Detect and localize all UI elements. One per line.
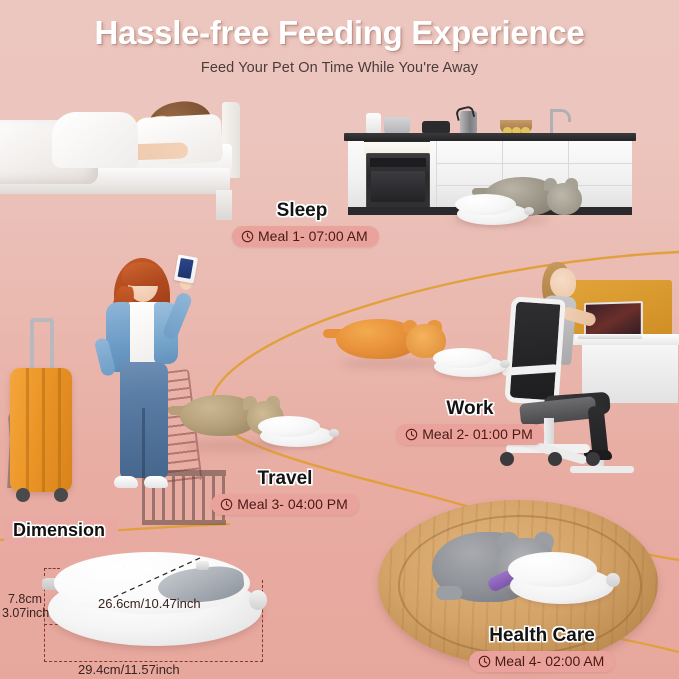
pet-feeder-travel xyxy=(258,416,336,450)
product-knob xyxy=(249,590,267,610)
clock-icon xyxy=(405,428,418,441)
office-chair-back xyxy=(504,296,565,406)
feeder-lid xyxy=(433,348,492,368)
scene-name-health-care: Health Care xyxy=(452,625,632,647)
chair-caster xyxy=(548,452,562,466)
cat-head xyxy=(547,183,582,215)
clock-icon xyxy=(478,655,491,668)
dimension-label: Dimension xyxy=(13,520,105,540)
passport xyxy=(174,254,198,283)
page-title: Hassle-free Feeding Experience xyxy=(0,14,679,52)
cabinet-seam xyxy=(436,163,632,164)
sleep-scene-bed xyxy=(0,98,242,224)
oven-control-panel xyxy=(370,158,426,167)
traveler-jeans-seam xyxy=(142,408,145,478)
meal-badge-work: Meal 2- 01:00 PM xyxy=(396,424,544,445)
traveler-shoe xyxy=(144,476,168,488)
cat-paw xyxy=(436,586,462,600)
meal-badge-text-work: Meal 2- 01:00 PM xyxy=(422,426,533,442)
faucet-arm xyxy=(550,109,571,122)
scene-label-health-care: Health Care Meal 4- 02:00 AM xyxy=(452,625,632,673)
traveler-woman xyxy=(92,258,212,508)
dimension-height-inch: 3.07inch xyxy=(2,606,49,620)
feeder-lid xyxy=(508,552,597,587)
infographic-page: Hassle-free Feeding Experience Feed Your… xyxy=(0,0,679,679)
traveler-hair-front xyxy=(122,262,164,286)
dimension-height-cm: 7.8cm xyxy=(8,592,42,606)
scene-label-work: Work Meal 2- 01:00 PM xyxy=(388,398,552,446)
feeder-knob xyxy=(500,360,510,368)
meal-badge-travel: Meal 3- 04:00 PM xyxy=(211,494,359,515)
meal-badge-sleep: Meal 1- 07:00 AM xyxy=(232,226,379,247)
suitcase-wheel xyxy=(54,488,68,502)
feeder-knob xyxy=(606,573,620,586)
dimension-height-label: 7.8cm 3.07inch xyxy=(2,592,42,621)
page-subtitle: Feed Your Pet On Time While You're Away xyxy=(0,60,679,76)
pet-feeder-work xyxy=(433,348,507,380)
dimension-width-label: 29.4cm/11.57inch xyxy=(78,663,180,678)
pot xyxy=(384,117,410,134)
suitcase xyxy=(10,368,72,492)
bed-leg xyxy=(216,190,232,220)
duvet-fold xyxy=(52,112,138,168)
pet-feeder-kitchen xyxy=(455,194,531,228)
scene-name-travel: Travel xyxy=(205,468,365,490)
laptop-keyboard xyxy=(578,335,642,339)
meal-badge-text-sleep: Meal 1- 07:00 AM xyxy=(258,228,368,244)
header: Hassle-free Feeding Experience Feed Your… xyxy=(0,0,679,76)
feeder-lid xyxy=(455,194,516,215)
cat-work xyxy=(336,310,446,364)
pet-feeder-health-care xyxy=(508,552,616,608)
passport-cover xyxy=(178,258,194,279)
suitcase-wheel xyxy=(16,488,30,502)
chair-caster xyxy=(500,452,514,466)
chair-caster xyxy=(586,452,600,466)
feeder-knob xyxy=(329,429,339,437)
suitcase-stripe xyxy=(58,368,61,492)
suitcase-stripe xyxy=(42,368,45,492)
clock-icon xyxy=(220,498,233,511)
meal-badge-health-care: Meal 4- 02:00 AM xyxy=(469,651,616,672)
meal-badge-text-travel: Meal 3- 04:00 PM xyxy=(237,496,348,512)
worker-head xyxy=(550,268,576,298)
oven xyxy=(366,153,430,209)
feeder-knob xyxy=(524,207,534,215)
fruit-basket xyxy=(500,120,532,134)
traveler-shoe xyxy=(114,476,138,488)
cabinet-seam xyxy=(436,141,437,207)
scene-label-travel: Travel Meal 3- 04:00 PM xyxy=(205,468,365,516)
plate-stack xyxy=(366,113,381,134)
oven-door-glass xyxy=(371,171,425,202)
dimension-badge: Dimension xyxy=(4,517,118,545)
meal-badge-text-health-care: Meal 4- 02:00 AM xyxy=(495,653,605,669)
dimension-diagonal-label: 26.6cm/10.47inch xyxy=(98,597,201,612)
desk-foot xyxy=(570,466,634,473)
suitcase-stripe xyxy=(26,368,29,492)
scene-name-work: Work xyxy=(388,398,552,420)
countertop xyxy=(344,133,636,141)
clock-icon xyxy=(241,230,254,243)
